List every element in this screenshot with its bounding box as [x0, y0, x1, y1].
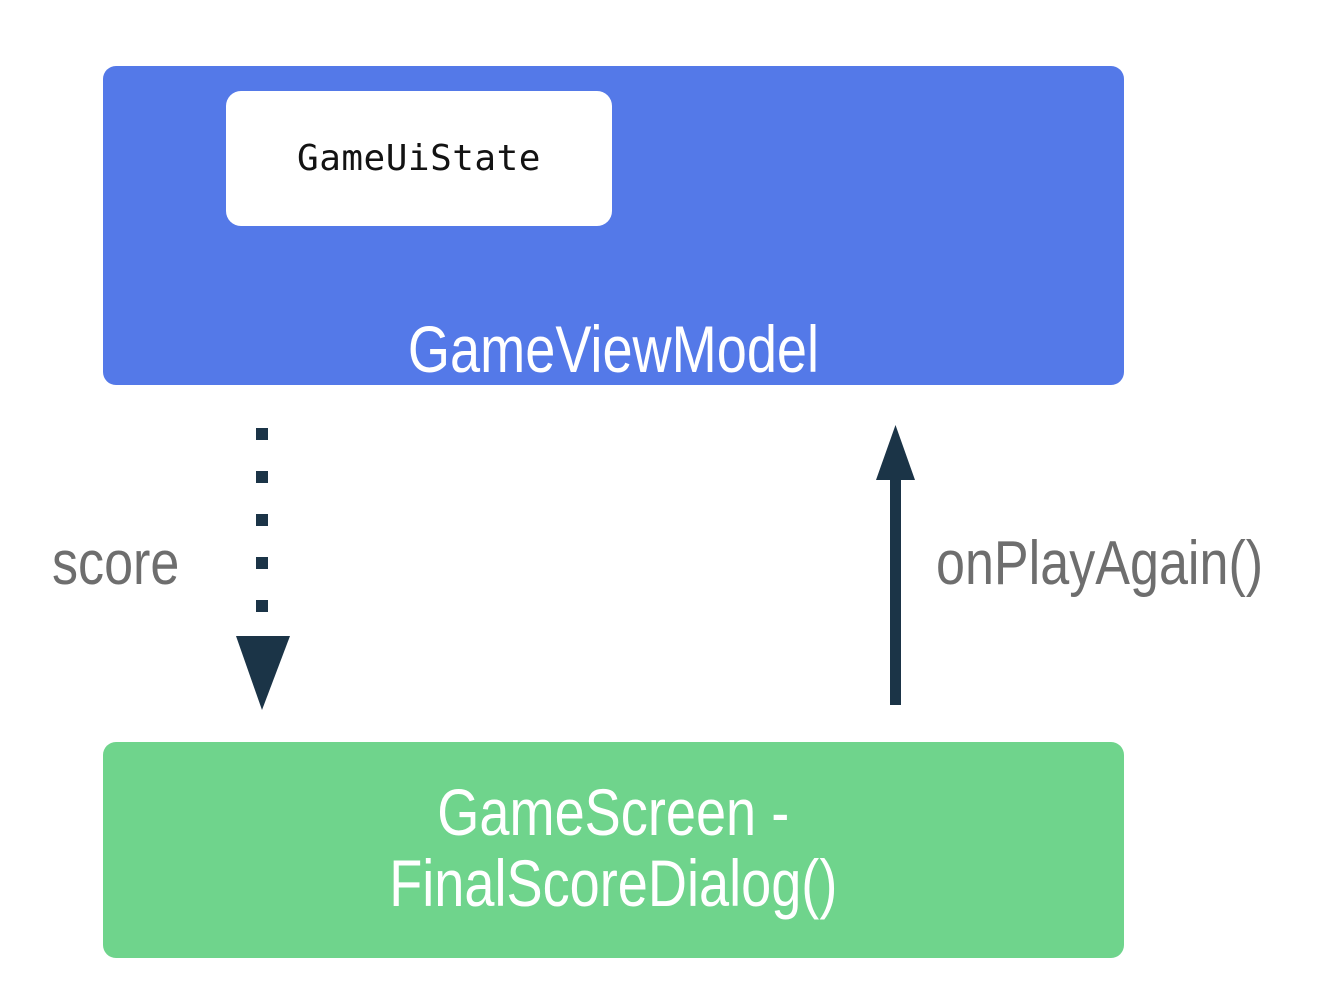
- edge-label-score: score: [52, 533, 179, 595]
- node-game-view-model-label: GameViewModel: [195, 314, 1032, 385]
- diagram-canvas: GameUiState GameViewModel score onPlayAg…: [0, 0, 1344, 998]
- node-game-screen-label: GameScreen - FinalScoreDialog(): [389, 777, 837, 920]
- edge-state-arrow-down: [225, 418, 305, 718]
- node-game-screen[interactable]: GameScreen - FinalScoreDialog(): [103, 742, 1124, 958]
- arrowhead-up-icon: [876, 425, 915, 480]
- arrowhead-down-icon: [236, 636, 290, 710]
- edge-event-arrow-up: [866, 418, 926, 718]
- edge-shaft: [890, 476, 901, 705]
- badge-game-ui-state-label: GameUiState: [297, 138, 541, 179]
- edge-label-on-play-again: onPlayAgain(): [936, 533, 1263, 595]
- edge-dot: [256, 557, 268, 569]
- badge-game-ui-state[interactable]: GameUiState: [226, 91, 612, 226]
- node-game-view-model[interactable]: GameUiState GameViewModel: [103, 66, 1124, 385]
- edge-dot: [256, 514, 268, 526]
- edge-dot: [256, 600, 268, 612]
- edge-dot: [256, 428, 268, 440]
- edge-dot: [256, 471, 268, 483]
